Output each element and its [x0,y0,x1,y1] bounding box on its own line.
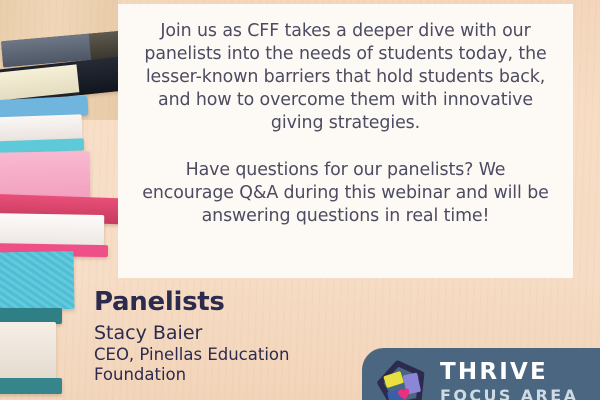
description-card: Join us as CFF takes a deeper dive with … [118,4,573,278]
paragraph-spacer [140,135,551,159]
badge-subtitle: FOCUS AREA [440,387,578,400]
panelists-section: Panelists Stacy Baier CEO, Pinellas Educ… [94,288,374,384]
book-item [0,251,74,311]
panelists-heading: Panelists [94,288,374,317]
book-item [0,378,62,394]
webinar-promo-poster: Join us as CFF takes a deeper dive with … [0,0,600,400]
book-item [0,322,56,380]
description-paragraph-1: Join us as CFF takes a deeper dive with … [140,20,551,135]
description-paragraph-2: Have questions for our panelists? We enc… [140,159,551,228]
panelist-name: Stacy Baier [94,323,374,345]
panelist-role: CEO, Pinellas Education Foundation [94,345,309,384]
thrive-focus-area-badge: THRIVE FOCUS AREA [362,348,600,400]
badge-title: THRIVE [440,360,578,384]
thrive-pentagon-logo-icon [376,358,428,400]
badge-text-group: THRIVE FOCUS AREA [440,357,578,400]
